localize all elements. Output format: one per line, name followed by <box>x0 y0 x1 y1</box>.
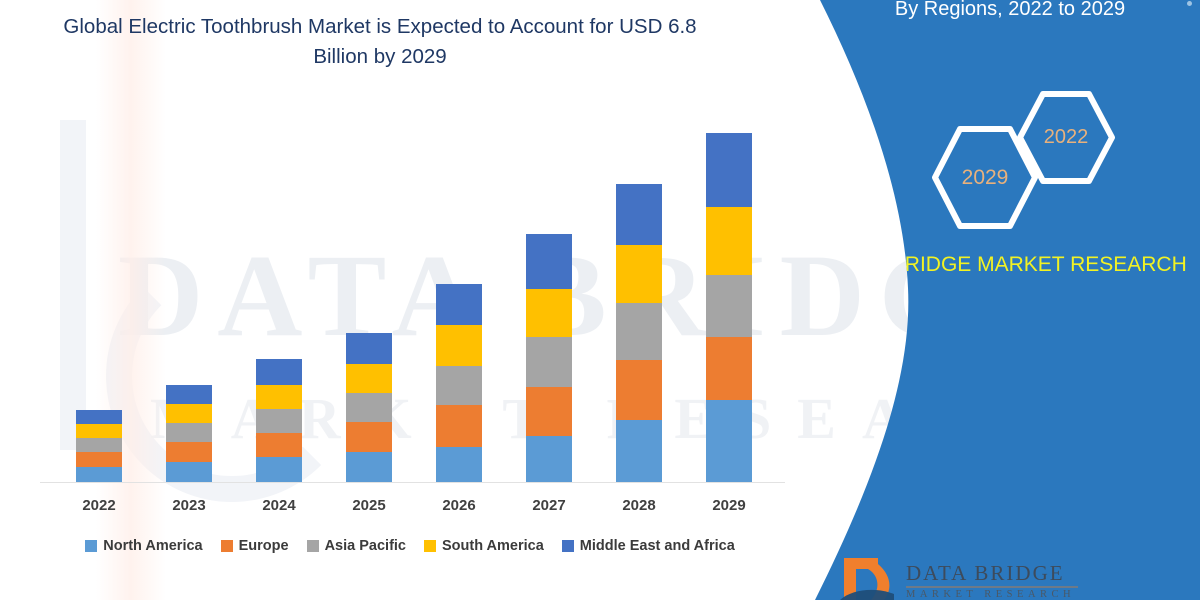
hexagon-end-year-label: 2029 <box>962 166 1009 190</box>
chart-legend: North AmericaEuropeAsia PacificSouth Ame… <box>40 538 780 554</box>
x-axis-tick-labels: 20222023202420252026202720282029 <box>40 490 780 522</box>
logo-wordmark: DATA BRIDGE MARKET RESEARCH <box>906 556 1078 600</box>
stacked-bar[interactable] <box>166 385 212 482</box>
bar-group <box>324 110 414 482</box>
bar-segment <box>706 275 752 337</box>
bar-segment <box>166 385 212 404</box>
bar-segment <box>76 467 122 482</box>
x-axis-tick-label: 2022 <box>54 490 144 522</box>
logo-subtitle: MARKET RESEARCH <box>906 588 1078 600</box>
bar-segment <box>616 303 662 360</box>
page-title: Global Electric Toothbrush Market is Exp… <box>40 12 720 72</box>
bar-segment <box>256 409 302 433</box>
bar-groups <box>40 110 780 482</box>
x-axis-tick-label: 2024 <box>234 490 324 522</box>
legend-swatch <box>221 540 233 552</box>
stacked-bar[interactable] <box>76 410 122 482</box>
bar-segment <box>616 184 662 245</box>
legend-item[interactable]: Middle East and Africa <box>562 538 735 554</box>
bridge-logo-icon <box>838 556 894 600</box>
bar-segment <box>436 405 482 447</box>
stacked-bar[interactable] <box>256 359 302 482</box>
bar-segment <box>436 447 482 482</box>
legend-swatch <box>307 540 319 552</box>
legend-item[interactable]: Europe <box>221 538 289 554</box>
x-axis-tick-label: 2025 <box>324 490 414 522</box>
bar-segment <box>616 360 662 420</box>
x-axis-tick-label: 2028 <box>594 490 684 522</box>
bar-segment <box>526 234 572 289</box>
bar-group <box>234 110 324 482</box>
legend-item[interactable]: North America <box>85 538 202 554</box>
bar-segment <box>526 337 572 387</box>
hexagon-year-group: 2022 2029 <box>910 90 1170 225</box>
x-axis-tick-label: 2027 <box>504 490 594 522</box>
x-axis-tick-label: 2029 <box>684 490 774 522</box>
bar-segment <box>76 438 122 452</box>
bar-segment <box>166 442 212 462</box>
bar-segment <box>706 207 752 275</box>
bar-group <box>504 110 594 482</box>
brand-name: DATA BRIDGE MARKET RESEARCH <box>820 250 1200 280</box>
bar-segment <box>166 462 212 482</box>
legend-label: Middle East and Africa <box>580 538 735 554</box>
bar-group <box>594 110 684 482</box>
bar-segment <box>706 400 752 482</box>
bar-segment <box>706 337 752 400</box>
bar-segment <box>256 433 302 457</box>
bar-segment <box>616 420 662 482</box>
company-logo: DATA BRIDGE MARKET RESEARCH <box>838 556 1168 600</box>
stacked-bar[interactable] <box>436 284 482 482</box>
bar-group <box>684 110 774 482</box>
bar-segment <box>706 133 752 207</box>
bar-segment <box>256 457 302 482</box>
bar-segment <box>166 423 212 442</box>
hexagon-start-year-label: 2022 <box>1044 126 1089 149</box>
logo-title: DATA BRIDGE <box>906 562 1078 584</box>
bar-segment <box>526 387 572 436</box>
bar-segment <box>76 424 122 438</box>
stacked-bar[interactable] <box>526 234 572 482</box>
legend-label: North America <box>103 538 202 554</box>
bar-group <box>144 110 234 482</box>
stacked-bar[interactable] <box>616 184 662 482</box>
legend-label: South America <box>442 538 544 554</box>
bar-group <box>414 110 504 482</box>
bar-segment <box>256 359 302 385</box>
x-axis-tick-label: 2023 <box>144 490 234 522</box>
bar-segment <box>526 289 572 337</box>
bar-segment <box>436 366 482 405</box>
legend-item[interactable]: South America <box>424 538 544 554</box>
legend-swatch <box>85 540 97 552</box>
bar-segment <box>436 325 482 366</box>
legend-item[interactable]: Asia Pacific <box>307 538 406 554</box>
hexagon-end-year: 2029 <box>930 125 1040 230</box>
bar-segment <box>346 422 392 452</box>
bar-segment <box>436 284 482 325</box>
stacked-bar[interactable] <box>346 333 392 482</box>
bar-segment <box>346 452 392 482</box>
legend-swatch <box>562 540 574 552</box>
legend-label: Europe <box>239 538 289 554</box>
legend-label: Asia Pacific <box>325 538 406 554</box>
bar-segment <box>526 436 572 482</box>
chart-subtitle: By Regions, 2022 to 2029 <box>820 0 1200 24</box>
bar-segment <box>346 364 392 393</box>
stacked-bar[interactable] <box>706 133 752 482</box>
brand-panel: By Regions, 2022 to 2029 2022 2029 DATA … <box>760 0 1200 600</box>
bar-segment <box>346 333 392 364</box>
bar-segment <box>76 410 122 424</box>
bar-segment <box>616 245 662 303</box>
chart-panel: Global Electric Toothbrush Market is Exp… <box>0 0 820 600</box>
bar-group <box>54 110 144 482</box>
x-axis-tick-label: 2026 <box>414 490 504 522</box>
plot-area <box>40 110 780 482</box>
x-axis-line <box>40 482 785 483</box>
legend-swatch <box>424 540 436 552</box>
bar-segment <box>76 452 122 467</box>
bar-segment <box>166 404 212 423</box>
bar-segment <box>256 385 302 409</box>
bar-segment <box>346 393 392 422</box>
